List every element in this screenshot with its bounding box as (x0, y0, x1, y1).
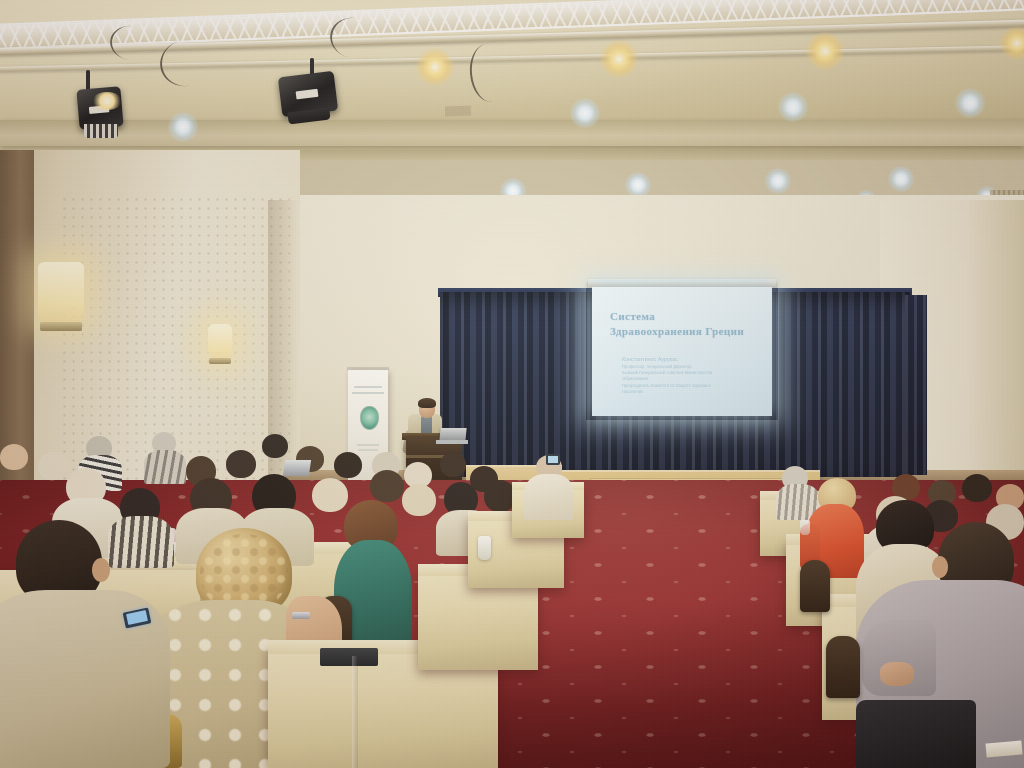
audience-head-far-3 (0, 444, 28, 470)
audience-head-far-4 (262, 434, 288, 458)
stage-curtain-right-sliver (905, 295, 927, 475)
man-dark-trousers-right (856, 700, 976, 768)
slide-body-line-0: Константинос Аурукас (622, 356, 764, 364)
audience-head-mid-6 (370, 470, 404, 502)
slide-title-line1: Система (610, 311, 764, 325)
chair-right-1[interactable] (800, 560, 830, 612)
stage-light-left-barrel (84, 124, 118, 138)
downlight-warm-2 (600, 40, 638, 78)
wall-sconce-large (38, 262, 84, 324)
audience-head-far-8 (334, 452, 362, 478)
banner-text-line-3 (357, 444, 379, 446)
slide-body-line-5: Населения (622, 389, 764, 395)
downlight-cool-3 (778, 92, 808, 122)
banner-globe-emblem (360, 406, 379, 430)
presenter-laptop-base (436, 440, 468, 444)
downlight-cool-8 (888, 166, 914, 192)
tablecloth-fold-1 (352, 656, 358, 768)
conference-hall-photo: Система Здравоохранения Греции Константи… (0, 0, 1024, 768)
stage-light-left-beam (92, 92, 122, 110)
wall-sconce-large-base (40, 322, 82, 331)
downlight-cool-7 (765, 168, 791, 194)
wall-sconce-small-base (209, 358, 231, 364)
presenter-hair (418, 398, 436, 408)
audience-body-far-2 (144, 450, 186, 484)
downlight-cool-1 (168, 112, 198, 142)
downlight-cool-2 (570, 98, 600, 128)
laptop-on-foreground-table[interactable] (320, 648, 378, 666)
audience-head-mid-7 (402, 484, 436, 516)
banner-text-line-1 (354, 386, 382, 388)
water-pitcher-left-center (478, 536, 491, 560)
stage-light-center-badge (296, 89, 319, 100)
audience-laptop-far[interactable] (283, 460, 311, 476)
chair-right-2[interactable] (826, 636, 860, 698)
man-foreground-left-ear (92, 558, 110, 582)
woman-polka-dot-watch (292, 612, 310, 619)
camera-screen (548, 456, 558, 463)
man-grey-jacket-hand (880, 662, 914, 686)
man-with-camera-torso (524, 474, 574, 520)
slide-body: Константинос Аурукас Профессор, генераль… (622, 356, 764, 396)
ceiling-vent-top (445, 106, 471, 117)
banner-text-line-2 (352, 392, 384, 394)
downlight-warm-3 (806, 32, 844, 70)
banner-text-line-4 (358, 449, 378, 451)
audience-head-right-4 (962, 474, 992, 502)
slide-title-line2: Здравоохранения Греции (610, 326, 764, 340)
audience-head-far-11 (440, 452, 466, 477)
audience-body-mid-2 (108, 516, 174, 568)
drinking-glass-right (800, 520, 810, 535)
wall-sconce-small (208, 324, 232, 360)
audience-head-far-5 (226, 450, 256, 478)
audience-head-far-13 (38, 452, 68, 480)
downlight-warm-1 (416, 48, 454, 86)
downlight-cool-4 (955, 88, 985, 118)
audience-head-mid-5 (312, 478, 348, 512)
slide-content: Система Здравоохранения Греции Константи… (600, 299, 764, 406)
wall-pillar-dark (0, 150, 34, 480)
ceiling-soffit-band (0, 120, 1024, 146)
man-grey-jacket-ear (932, 556, 948, 578)
